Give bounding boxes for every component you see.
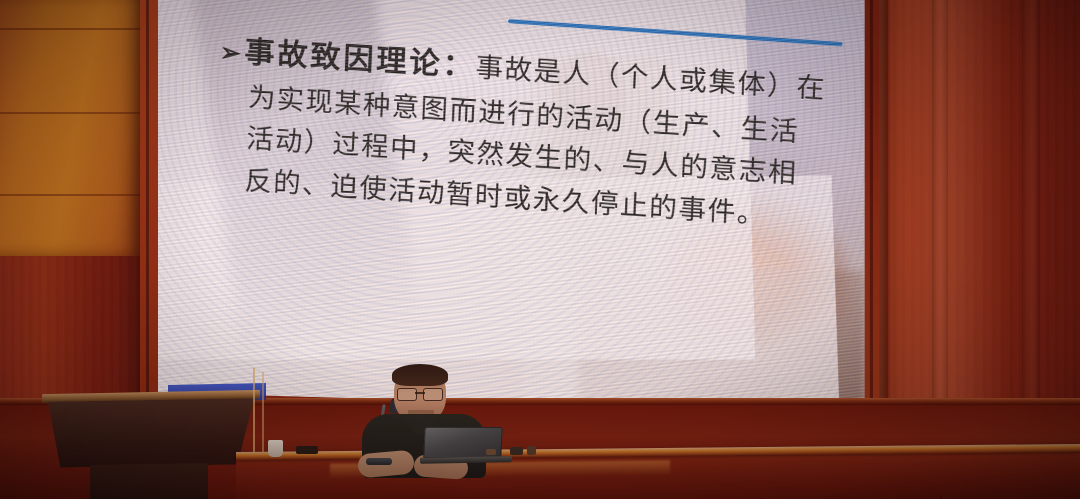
- presenter-hair: [392, 364, 448, 386]
- desk-object: [486, 449, 496, 455]
- glasses-icon: [397, 388, 443, 399]
- glasses-right-lens: [423, 388, 443, 401]
- wall-panel-tan: [0, 0, 147, 256]
- glasses-bridge: [415, 392, 425, 394]
- desk-object: [296, 446, 318, 454]
- projection-screen: ➢事故致因理论：事故是人（个人或集体）在 为实现某种意图而进行的活动（生产、生活…: [158, 0, 865, 413]
- paper-cup: [268, 440, 283, 457]
- slide-heading: 事故致因理论: [244, 35, 443, 82]
- desk-object: [510, 447, 523, 455]
- desk-object: [527, 446, 536, 455]
- lectern-body: [48, 398, 254, 468]
- slide-heading-separator: ：: [442, 48, 477, 85]
- lectern: [42, 392, 260, 499]
- projection-screen-frame: ➢事故致因理论：事故是人（个人或集体）在 为实现某种意图而进行的活动（生产、生活…: [140, 0, 879, 428]
- laptop: [420, 427, 510, 462]
- lectern-base: [90, 463, 208, 499]
- arrow-bullet-icon: ➢: [219, 38, 243, 68]
- microphone-base: [366, 458, 392, 465]
- panel-seam: [0, 112, 144, 114]
- lecture-hall-photo: ➢事故致因理论：事故是人（个人或集体）在 为实现某种意图而进行的活动（生产、生活…: [0, 0, 1080, 499]
- panel-seam: [0, 194, 143, 196]
- panel-seam: [0, 28, 146, 30]
- glasses-left-lens: [397, 388, 417, 401]
